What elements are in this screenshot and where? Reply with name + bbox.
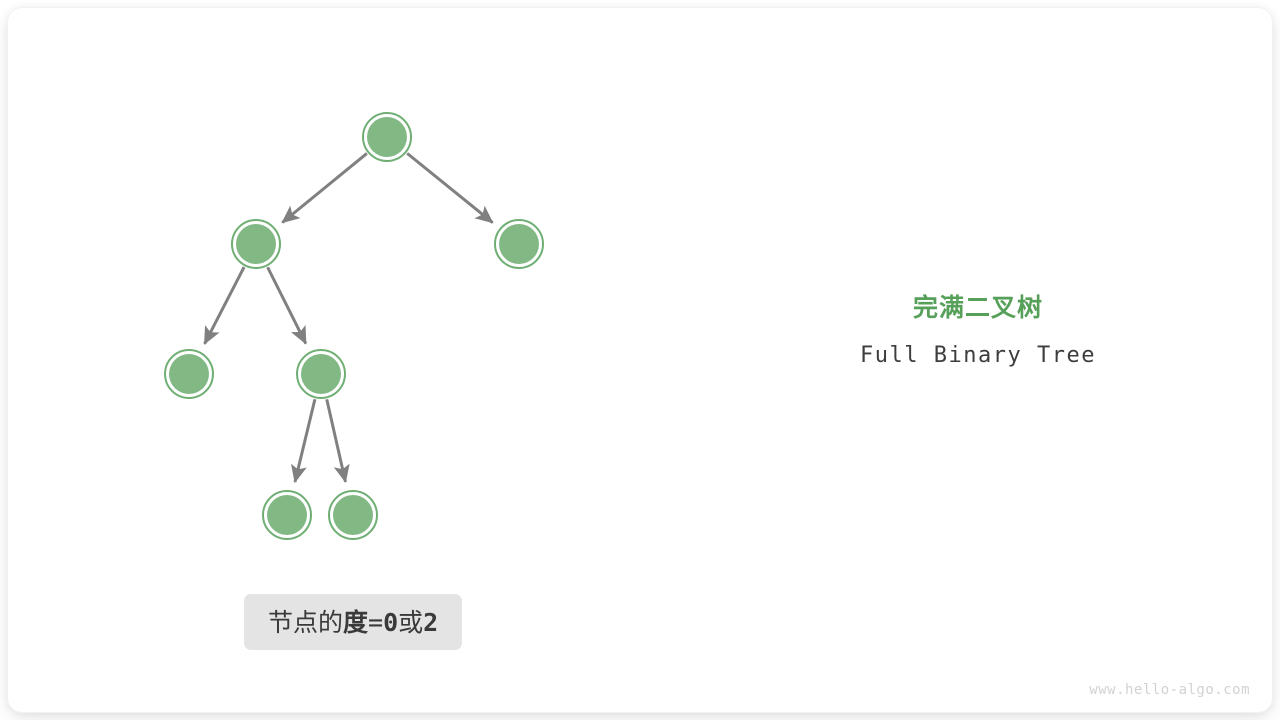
degree-badge-segment: 节点的: [268, 603, 343, 639]
degree-badge-segment: 度: [343, 603, 368, 639]
tree-node-fill: [367, 117, 407, 157]
tree-node[interactable]: [232, 220, 280, 268]
caption-title: 完满二叉树: [768, 293, 1188, 323]
tree-node[interactable]: [495, 220, 543, 268]
degree-badge-segment: 或: [398, 603, 423, 639]
tree-node-fill: [333, 495, 373, 535]
tree-node[interactable]: [297, 350, 345, 398]
degree-badge-segment: 2: [423, 608, 438, 637]
tree-edge: [407, 153, 492, 222]
caption-subtitle: Full Binary Tree: [768, 343, 1188, 368]
tree-node-fill: [169, 354, 209, 394]
degree-badge: 节点的度 = 0 或 2: [244, 594, 462, 650]
degree-badge-segment: =: [368, 608, 383, 637]
degree-badge-segment: 0: [383, 608, 398, 637]
tree-nodes: [165, 113, 543, 539]
tree-node-fill: [267, 495, 307, 535]
tree-edge: [205, 267, 245, 344]
tree-node-fill: [301, 354, 341, 394]
tree-edge: [282, 153, 367, 222]
figure-card: 完满二叉树 Full Binary Tree 节点的度 = 0 或 2 www.…: [8, 8, 1272, 712]
tree-edge: [327, 399, 346, 481]
tree-edge: [295, 399, 315, 482]
tree-edge: [268, 267, 306, 343]
tree-node[interactable]: [165, 350, 213, 398]
tree-node[interactable]: [329, 491, 377, 539]
tree-node[interactable]: [363, 113, 411, 161]
caption-block: 完满二叉树 Full Binary Tree: [768, 293, 1188, 368]
tree-node-fill: [236, 224, 276, 264]
tree-node[interactable]: [263, 491, 311, 539]
tree-edges: [205, 153, 493, 482]
tree-node-fill: [499, 224, 539, 264]
watermark: www.hello-algo.com: [1089, 682, 1250, 698]
